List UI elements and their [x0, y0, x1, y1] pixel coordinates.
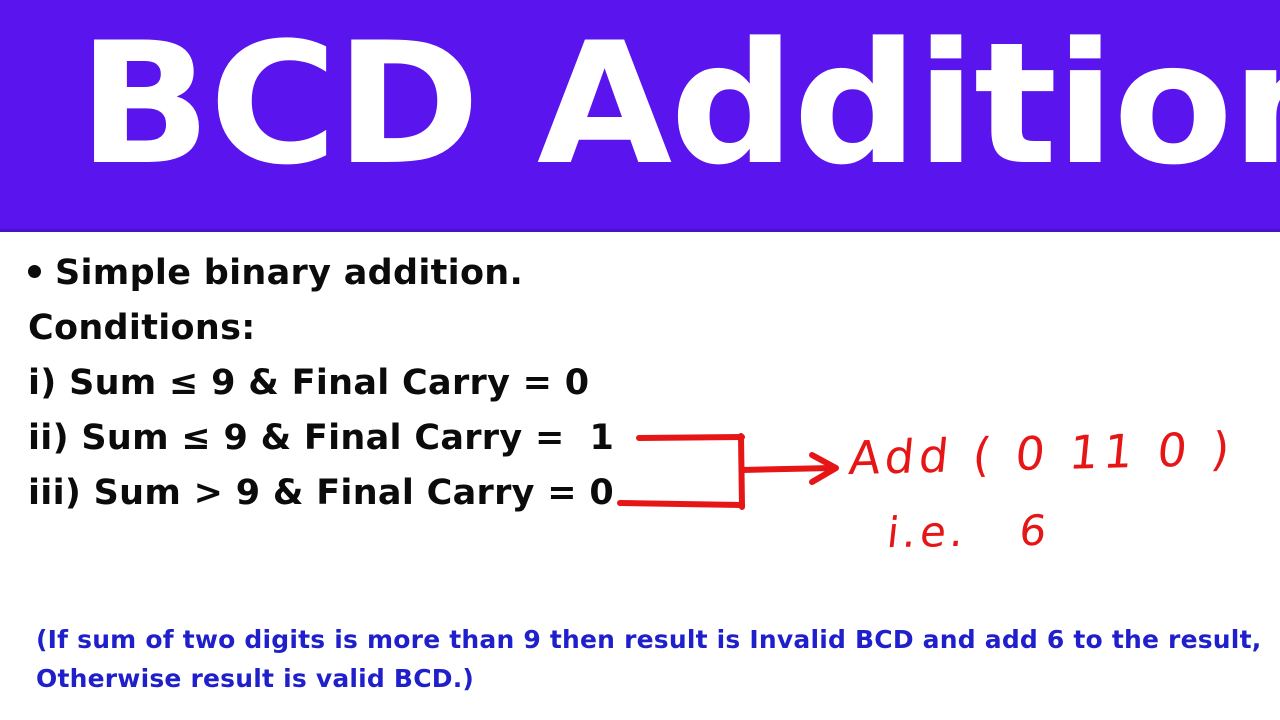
- footnote-line-1: (If sum of two digits is more than 9 the…: [36, 620, 1266, 659]
- conditions-heading: Conditions:: [28, 301, 1008, 356]
- condition-item-iii: iii) Sum > 9 & Final Carry = 0: [28, 466, 1008, 521]
- title-banner: BCD Addition: [0, 0, 1280, 232]
- slide-root: BCD Addition Simple binary addition. Con…: [0, 0, 1280, 720]
- condition-item-i: i) Sum ≤ 9 & Final Carry = 0: [28, 356, 1008, 411]
- bullet-line-label: Simple binary addition.: [55, 253, 523, 293]
- body-text-block: Simple binary addition. Conditions: i) S…: [28, 246, 1008, 521]
- condition-item-ii: ii) Sum ≤ 9 & Final Carry = 1: [28, 411, 1008, 466]
- page-title: BCD Addition: [78, 6, 1264, 206]
- footnote-block: (If sum of two digits is more than 9 the…: [36, 620, 1266, 698]
- footnote-line-2: Otherwise result is valid BCD.): [36, 659, 1266, 698]
- bullet-dot-icon: [28, 265, 41, 278]
- bullet-line: Simple binary addition.: [28, 246, 1008, 301]
